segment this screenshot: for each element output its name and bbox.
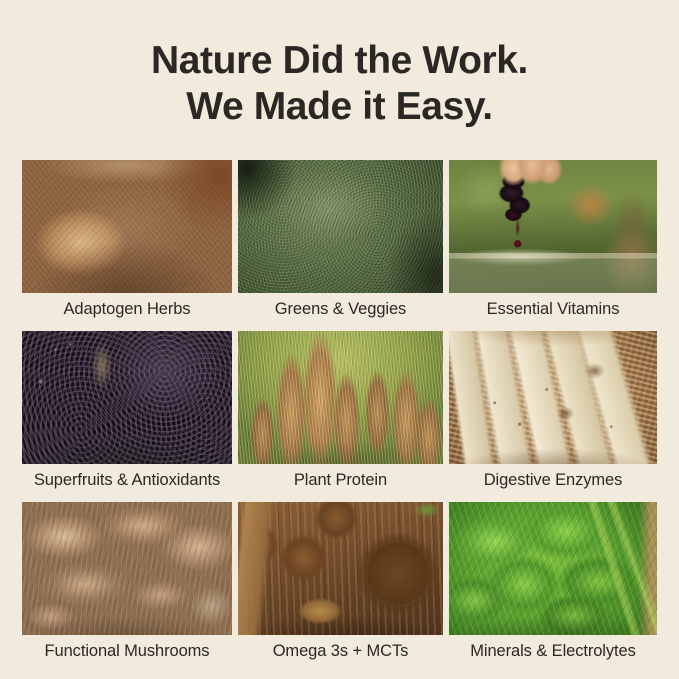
- grid-cell-minerals-electrolytes: Minerals & Electrolytes: [449, 502, 657, 667]
- chia-seeds-coconut-photo: [238, 502, 443, 635]
- grid-cell-functional-mushrooms: Functional Mushrooms: [22, 502, 232, 667]
- grid-caption-plant-protein: Plant Protein: [238, 464, 443, 496]
- grid-caption-minerals-electrolytes: Minerals & Electrolytes: [449, 635, 657, 667]
- grid-caption-adaptogen-herbs: Adaptogen Herbs: [22, 293, 232, 325]
- grid-cell-plant-protein: Plant Protein: [238, 331, 443, 496]
- grid-cell-superfruits-antioxidants: Superfruits & Antioxidants: [22, 331, 232, 496]
- grid-cell-adaptogen-herbs: Adaptogen Herbs: [22, 160, 232, 325]
- page-title: Nature Did the Work. We Made it Easy.: [0, 38, 679, 130]
- grid-cell-omega-3s-mcts: Omega 3s + MCTs: [238, 502, 443, 667]
- acai-berry-cluster-photo: [22, 331, 232, 464]
- maitake-mushroom-photo: [22, 502, 232, 635]
- page-title-line-2: We Made it Easy.: [0, 84, 679, 130]
- grid-caption-functional-mushrooms: Functional Mushrooms: [22, 635, 232, 667]
- grid-cell-essential-vitamins: Essential Vitamins: [449, 160, 657, 325]
- blackberry-juice-photo: [449, 160, 657, 293]
- infographic-page: Nature Did the Work. We Made it Easy. Ad…: [0, 0, 679, 679]
- green-powder-photo: [238, 160, 443, 293]
- fresh-spinach-photo: [449, 502, 657, 635]
- amaranth-seed-heads-photo: [238, 331, 443, 464]
- grid-cell-greens-veggies: Greens & Veggies: [238, 160, 443, 325]
- grid-caption-greens-veggies: Greens & Veggies: [238, 293, 443, 325]
- grid-cell-digestive-enzymes: Digestive Enzymes: [449, 331, 657, 496]
- ingredient-grid: Adaptogen Herbs Greens & Veggies Essenti…: [22, 160, 658, 667]
- grid-caption-omega-3s-mcts: Omega 3s + MCTs: [238, 635, 443, 667]
- grid-caption-superfruits-antioxidants: Superfruits & Antioxidants: [22, 464, 232, 496]
- burdock-roots-photo: [449, 331, 657, 464]
- grid-caption-essential-vitamins: Essential Vitamins: [449, 293, 657, 325]
- page-title-line-1: Nature Did the Work.: [0, 38, 679, 84]
- grid-caption-digestive-enzymes: Digestive Enzymes: [449, 464, 657, 496]
- dried-maca-roots-photo: [22, 160, 232, 293]
